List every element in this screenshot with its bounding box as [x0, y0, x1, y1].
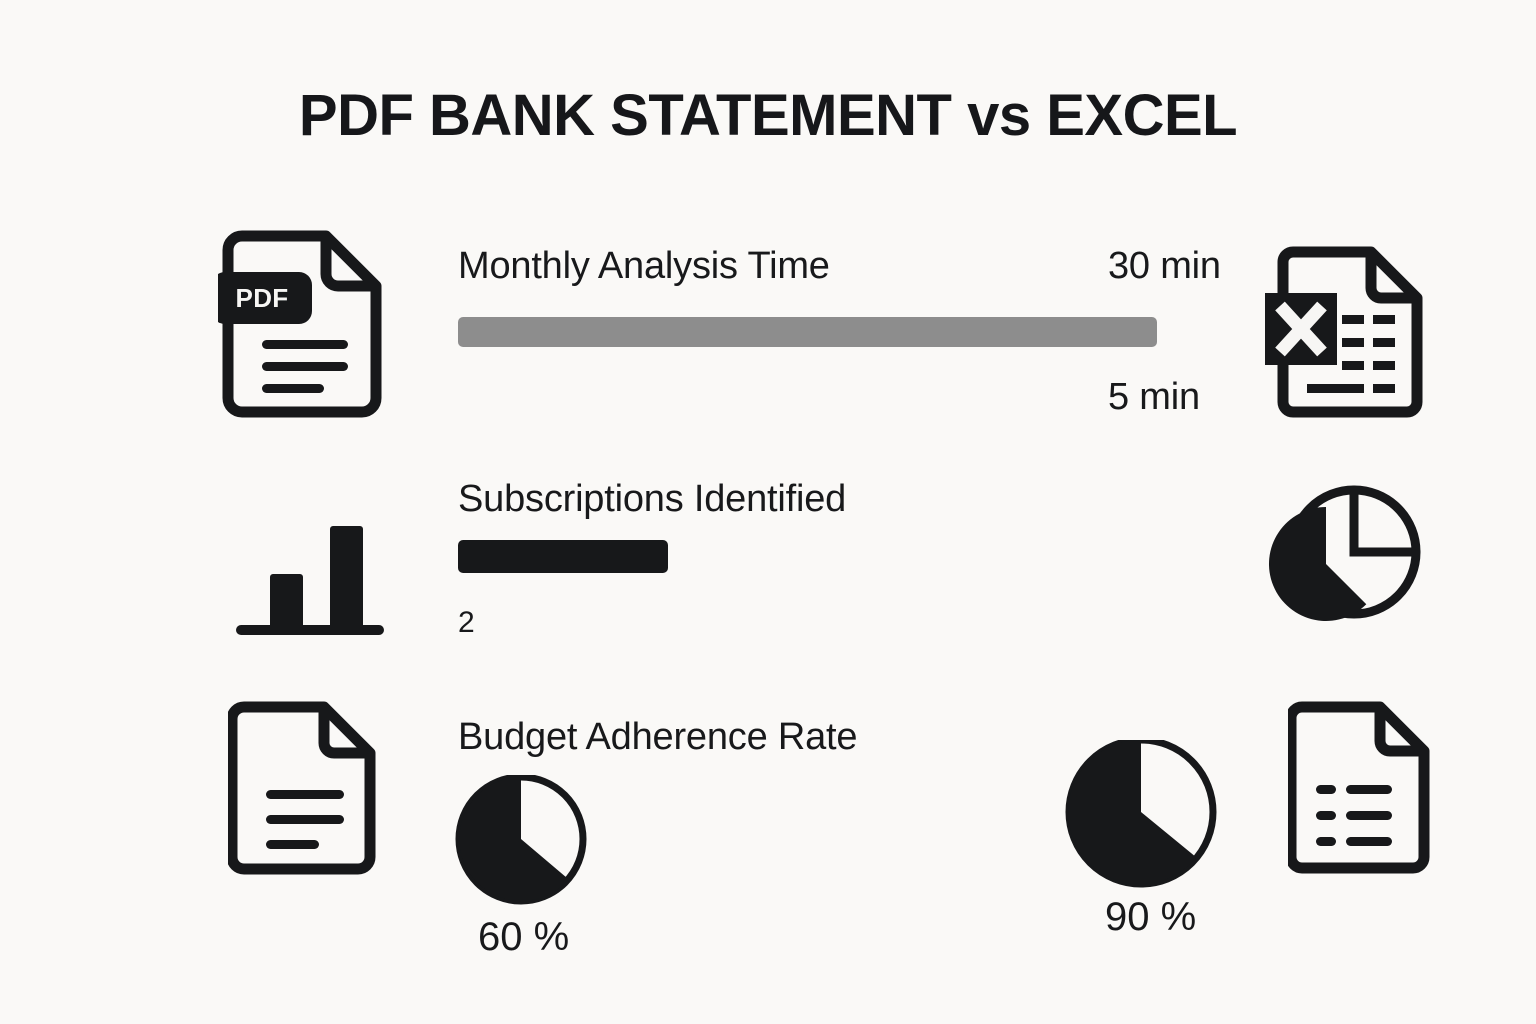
metric-label-monthly-analysis-time: Monthly Analysis Time: [458, 245, 830, 288]
bar-monthly-analysis-time: [458, 317, 1157, 347]
bar-subscriptions-identified: [458, 540, 668, 573]
pie-chart-outline-icon: [1268, 478, 1428, 638]
infographic-canvas: PDF BANK STATEMENT vs EXCEL PDF Monthly …: [0, 0, 1536, 1024]
metric-left-value-budget-adherence-rate: 60 %: [478, 915, 569, 960]
pdf-file-icon: PDF: [218, 222, 393, 427]
page-title: PDF BANK STATEMENT vs EXCEL: [0, 82, 1536, 149]
pdf-badge-label: PDF: [212, 272, 312, 324]
bar-chart-icon: [232, 512, 388, 640]
pie-chart-60: [455, 775, 595, 905]
metric-left-value-subscriptions-identified: 2: [458, 606, 475, 640]
pie-chart-90: [1065, 740, 1225, 890]
metric-left-value-monthly-analysis-time: 30 min: [1108, 245, 1221, 288]
document-lines-icon: [228, 697, 384, 877]
metric-right-value-monthly-analysis-time: 5 min: [1108, 376, 1200, 419]
page-title-text: PDF BANK STATEMENT vs EXCEL: [299, 83, 1237, 148]
metric-label-budget-adherence-rate: Budget Adherence Rate: [458, 716, 857, 759]
document-list-icon: [1288, 697, 1438, 877]
metric-label-subscriptions-identified: Subscriptions Identified: [458, 478, 846, 521]
metric-right-value-budget-adherence-rate: 90 %: [1105, 895, 1196, 940]
excel-file-icon: [1263, 243, 1428, 425]
